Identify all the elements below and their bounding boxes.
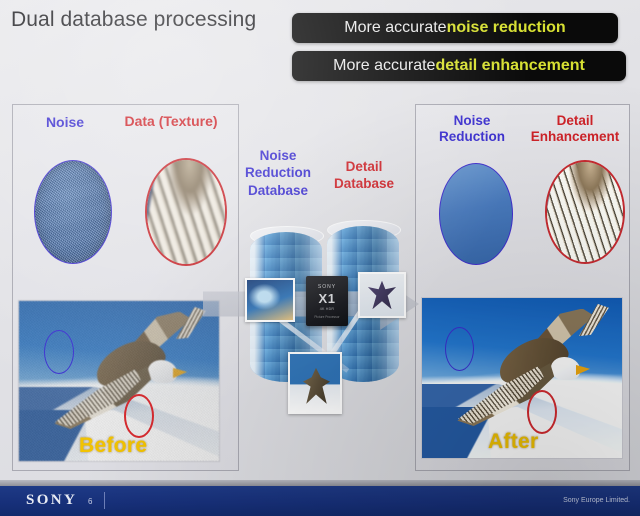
marker-detail-before [124, 394, 154, 438]
callout-highlight-1: noise reduction [447, 19, 566, 37]
footer-divider [0, 480, 640, 486]
x1-processor-chip: SONY X1 4K HDR Picture Processor [306, 276, 348, 326]
nr-line-1: Noise [424, 113, 520, 129]
sony-logo: SONY [26, 492, 77, 509]
callout-noise-reduction: More accurate noise reduction [292, 13, 618, 43]
marker-detail-after [527, 390, 557, 434]
noise-reduced-ellipse [439, 163, 513, 265]
presentation-slide: Dual database processing More accurate n… [0, 0, 640, 516]
chip-sub2-label: Picture Processor [314, 315, 339, 319]
nrdb-line-2: Reduction [238, 164, 318, 181]
callout-highlight-2: detail enhancement [435, 57, 584, 75]
bird-silhouette-icon [368, 281, 396, 310]
feather-texture-sharp [545, 160, 625, 264]
label-detail-database: Detail Database [330, 158, 398, 193]
noise-sample-ellipse [34, 160, 112, 264]
callout-detail-enhancement: More accurate detail enhancement [292, 51, 626, 81]
chip-sub-label: 4K HDR [320, 307, 334, 311]
texture-sample-ellipse [145, 158, 227, 266]
label-data-texture: Data (Texture) [112, 113, 230, 130]
detail-enhanced-ellipse [545, 160, 625, 264]
callout-prefix-1: More accurate [344, 19, 446, 37]
nr-line-2: Reduction [424, 129, 520, 145]
ddb-line-2: Database [330, 175, 398, 192]
feather-texture-soft [145, 158, 227, 266]
label-noise: Noise [24, 114, 106, 131]
page-title: Dual database processing [11, 8, 281, 32]
callout-prefix-2: More accurate [333, 57, 435, 75]
page-number: 6 [88, 497, 92, 506]
ddb-line-1: Detail [330, 158, 398, 175]
de-line-2: Enhancement [523, 129, 627, 145]
chip-model-label: X1 [319, 291, 336, 306]
chip-brand-label: SONY [318, 284, 336, 290]
label-noise-reduction-database: Noise Reduction Database [238, 147, 318, 199]
caption-after: After [488, 430, 539, 454]
eagle-head-after [551, 357, 580, 380]
copyright-text: Sony Europe Limited. [563, 497, 630, 504]
eagle-silhouette-icon [303, 368, 330, 404]
sample-photo-sunset [245, 278, 295, 322]
caption-before: Before [79, 434, 147, 458]
eagle-beak-after [576, 365, 590, 375]
nrdb-line-3: Database [238, 182, 318, 199]
label-noise-reduction: Noise Reduction [424, 113, 520, 145]
footer-separator [104, 492, 105, 509]
sample-photo-bird [358, 272, 406, 318]
label-detail-enhancement: Detail Enhancement [523, 113, 627, 145]
sample-photo-eagle [288, 352, 342, 414]
de-line-1: Detail [523, 113, 627, 129]
marker-noise-after [445, 327, 474, 371]
marker-noise-before [44, 330, 74, 374]
slide-footer: SONY 6 Sony Europe Limited. [0, 486, 640, 516]
nrdb-line-1: Noise [238, 147, 318, 164]
